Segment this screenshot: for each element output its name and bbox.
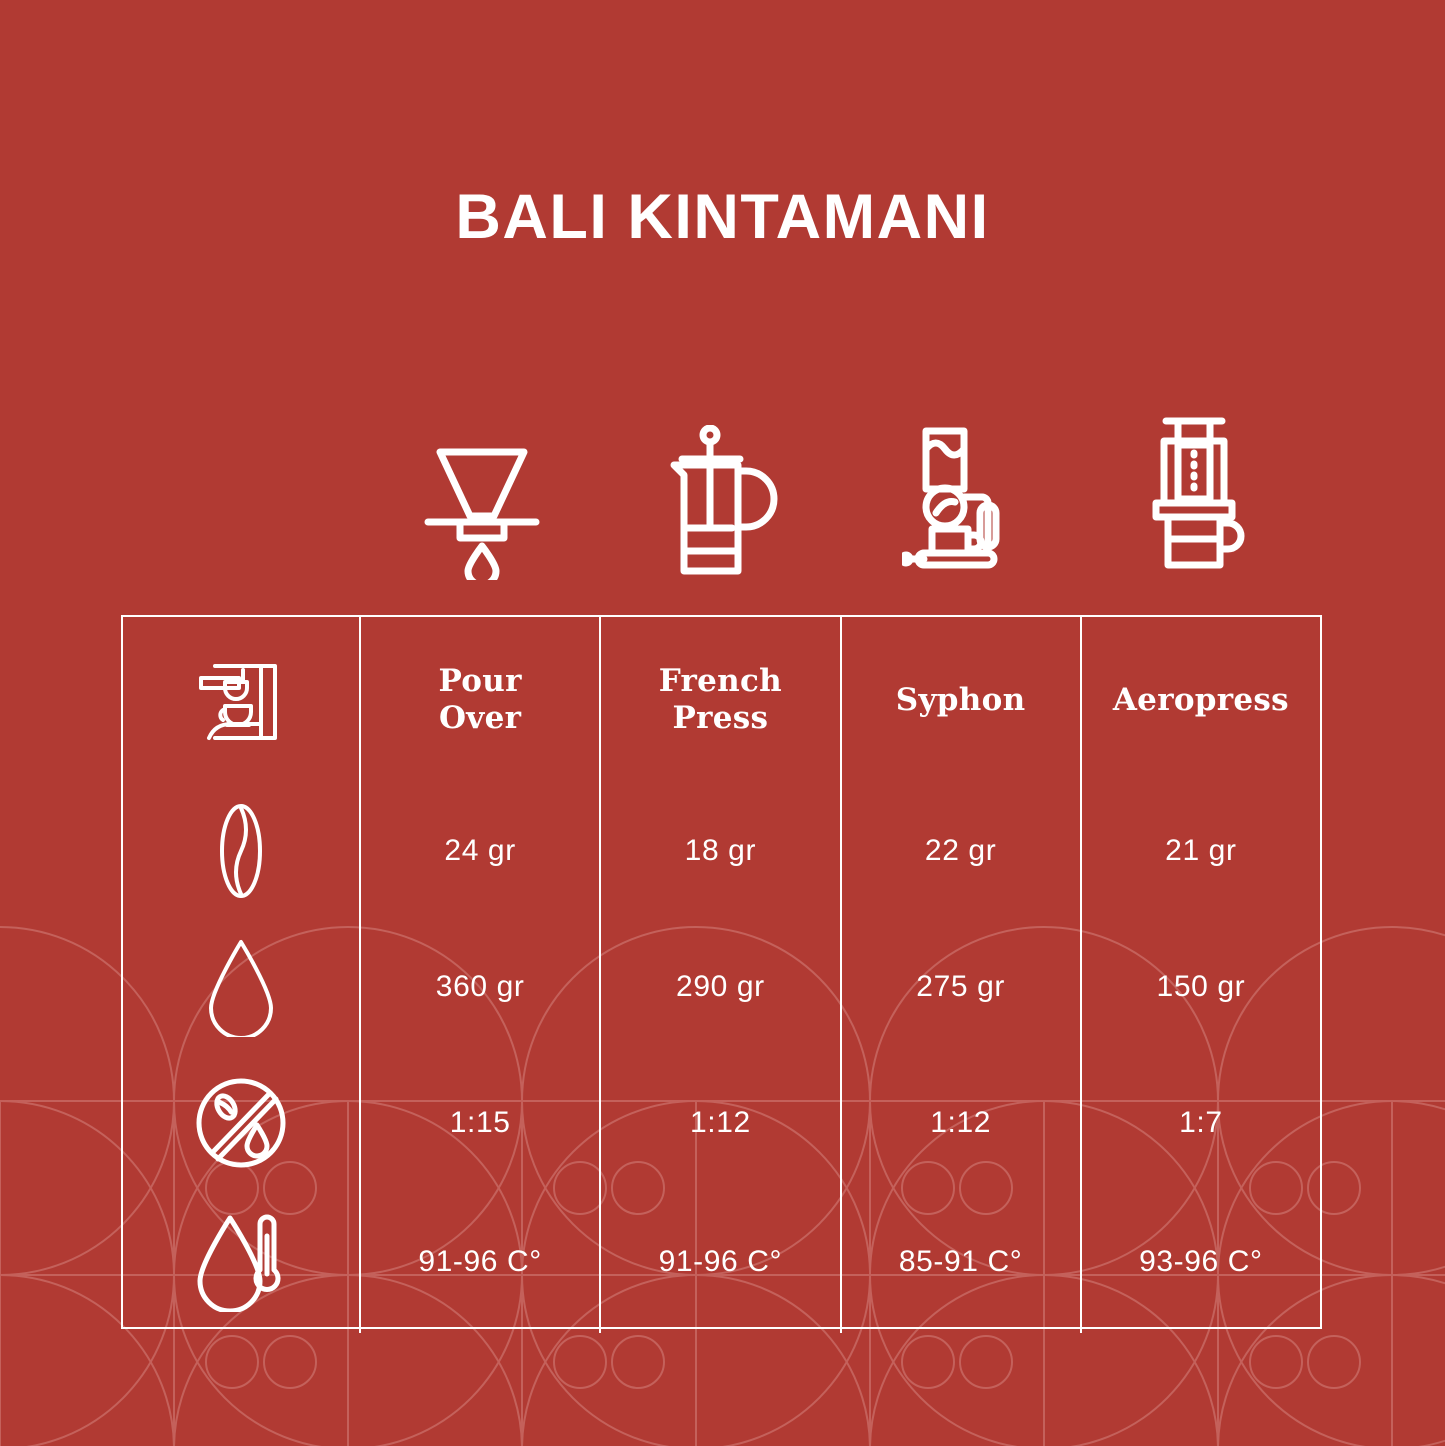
cell-water-french-press: 290 gr xyxy=(601,919,841,1055)
cell-temperature-french-press: 91-96 C° xyxy=(601,1191,841,1333)
column-header-french-press: French Press xyxy=(601,617,841,783)
cell-dose-aeropress: 21 gr xyxy=(1082,783,1320,919)
coffee-bean-icon-cell xyxy=(123,783,361,919)
column-header-line1: French xyxy=(659,663,782,699)
column-header-line1: Pour xyxy=(439,663,522,699)
pour-over-dripper-icon xyxy=(422,430,542,580)
cell-water-syphon: 275 gr xyxy=(842,919,1082,1055)
espresso-machine-icon xyxy=(195,654,287,746)
cell-value: 91-96 C° xyxy=(659,1245,783,1279)
water-drop-icon-cell xyxy=(123,919,361,1055)
column-header-syphon: Syphon xyxy=(842,617,1082,783)
table-row-temperature: 91-96 C° 91-96 C° 85-91 C° 93-96 C° xyxy=(123,1191,1320,1333)
table-row-water: 360 gr 290 gr 275 gr 150 gr xyxy=(123,919,1320,1055)
cell-value: 1:7 xyxy=(1179,1106,1223,1140)
cell-value: 150 gr xyxy=(1157,970,1246,1004)
cell-value: 360 gr xyxy=(436,970,525,1004)
syphon-icon xyxy=(902,425,1022,580)
aeropress-icon xyxy=(1142,415,1262,580)
cell-temperature-syphon: 85-91 C° xyxy=(842,1191,1082,1333)
water-temperature-icon-cell xyxy=(123,1191,361,1333)
brewer-icon-cell-syphon xyxy=(842,405,1082,580)
cell-value: 21 gr xyxy=(1165,834,1236,868)
column-header-line2: Over xyxy=(439,700,521,736)
cell-ratio-aeropress: 1:7 xyxy=(1082,1055,1320,1191)
cell-water-aeropress: 150 gr xyxy=(1082,919,1320,1055)
french-press-icon xyxy=(662,425,782,580)
table-row-ratio: 1:15 1:12 1:12 1:7 xyxy=(123,1055,1320,1191)
cell-value: 22 gr xyxy=(925,834,996,868)
brewer-icon-cell-aeropress xyxy=(1082,405,1322,580)
water-drop-icon xyxy=(203,937,279,1037)
cell-value: 91-96 C° xyxy=(418,1245,542,1279)
cell-value: 1:12 xyxy=(690,1106,751,1140)
cell-dose-syphon: 22 gr xyxy=(842,783,1082,919)
cell-ratio-pour-over: 1:15 xyxy=(361,1055,601,1191)
cell-value: 93-96 C° xyxy=(1139,1245,1263,1279)
column-header-line1: Aeropress xyxy=(1113,682,1289,719)
cell-value: 24 gr xyxy=(444,834,515,868)
column-header-aeropress: Aeropress xyxy=(1082,617,1320,783)
cell-value: 1:15 xyxy=(450,1106,511,1140)
column-header-pour-over: Pour Over xyxy=(361,617,601,783)
cell-value: 85-91 C° xyxy=(899,1245,1023,1279)
cell-ratio-french-press: 1:12 xyxy=(601,1055,841,1191)
table-row-dose: 24 gr 18 gr 22 gr 21 gr xyxy=(123,783,1320,919)
cell-dose-pour-over: 24 gr xyxy=(361,783,601,919)
column-header-line1: Syphon xyxy=(896,682,1026,719)
cell-value: 1:12 xyxy=(930,1106,991,1140)
cell-temperature-aeropress: 93-96 C° xyxy=(1082,1191,1320,1333)
cell-dose-french-press: 18 gr xyxy=(601,783,841,919)
cell-temperature-pour-over: 91-96 C° xyxy=(361,1191,601,1333)
page-title: BALI KINTAMANI xyxy=(0,186,1445,249)
cell-ratio-syphon: 1:12 xyxy=(842,1055,1082,1191)
cell-value: 275 gr xyxy=(916,970,1005,1004)
water-temperature-icon xyxy=(192,1212,290,1312)
cell-value: 290 gr xyxy=(676,970,765,1004)
brew-parameters-table: Pour Over French Press Syphon Aeropress xyxy=(121,615,1322,1329)
brewer-icon-strip xyxy=(362,405,1322,580)
espresso-machine-icon-cell xyxy=(123,617,361,783)
cell-value: 18 gr xyxy=(685,834,756,868)
coffee-water-ratio-icon xyxy=(193,1075,289,1171)
brewer-icon-cell-pour-over xyxy=(362,405,602,580)
coffee-bean-icon xyxy=(204,802,278,900)
cell-water-pour-over: 360 gr xyxy=(361,919,601,1055)
column-header-line2: Press xyxy=(672,700,768,736)
brewer-icon-cell-french-press xyxy=(602,405,842,580)
table-header-row: Pour Over French Press Syphon Aeropress xyxy=(123,617,1320,783)
coffee-water-ratio-icon-cell xyxy=(123,1055,361,1191)
